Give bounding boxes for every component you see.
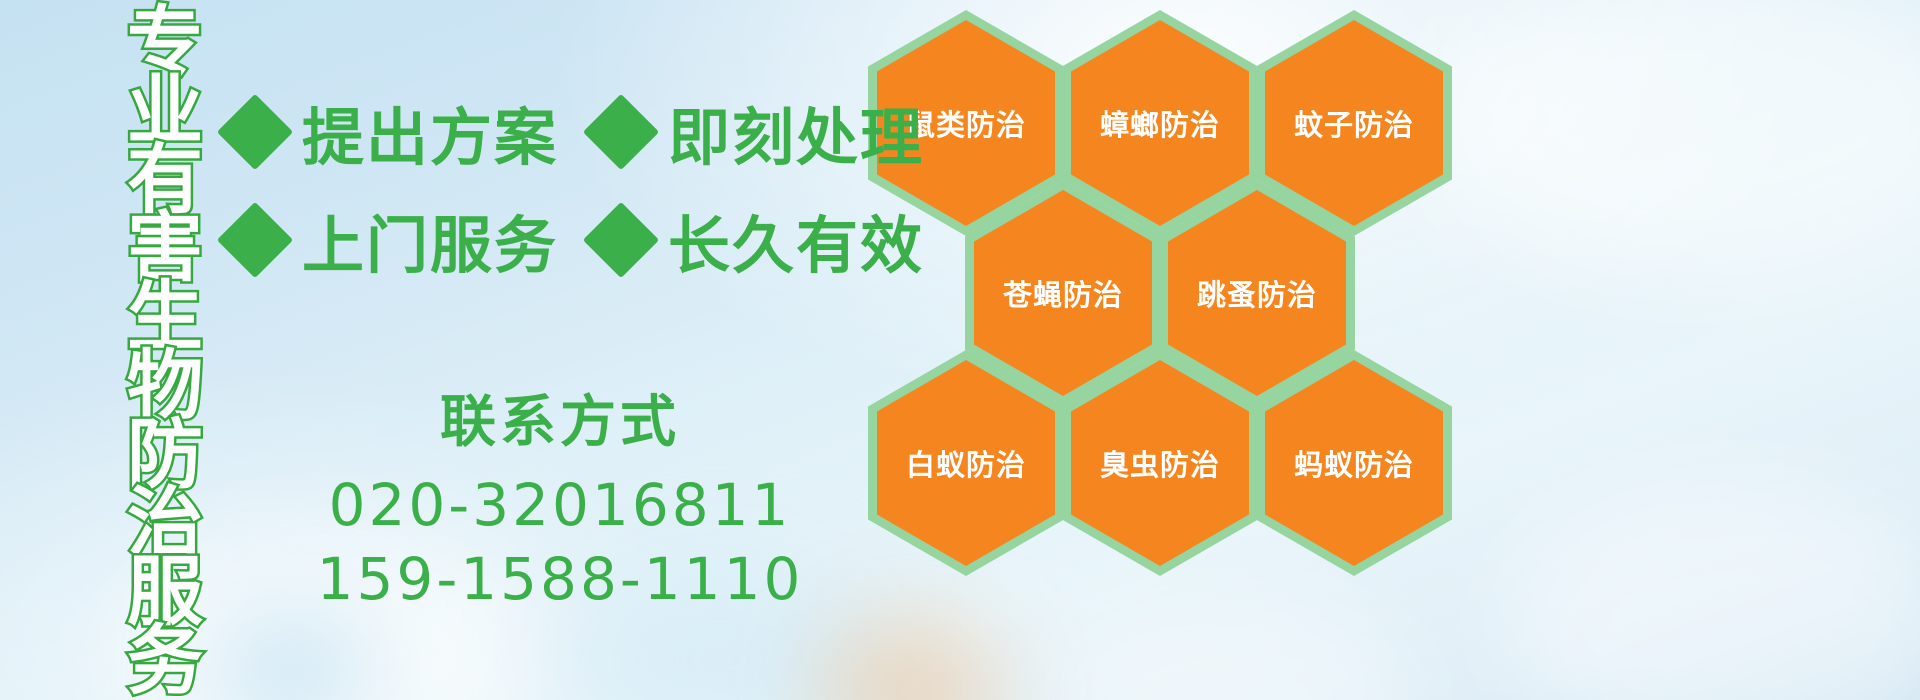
feature-item-propose-plan: 提出方案	[228, 87, 558, 177]
service-label: 跳蚤防治	[1197, 272, 1317, 314]
service-label: 苍蝇防治	[1003, 272, 1123, 314]
service-label: 蟑螂防治	[1100, 102, 1220, 144]
diamond-icon	[217, 202, 293, 278]
service-label: 蚊子防治	[1294, 102, 1414, 144]
feature-label: 长久有效	[668, 195, 924, 285]
background-blob	[1420, 0, 1920, 280]
feature-label: 提出方案	[302, 87, 558, 177]
feature-label: 上门服务	[302, 195, 558, 285]
contact-block: 联系方式 020-32016811 159-1588-1110	[300, 392, 820, 616]
phone-number-landline[interactable]: 020-32016811	[300, 468, 820, 542]
diamond-icon	[583, 94, 659, 170]
hex-inner: 白蚁防治	[877, 360, 1055, 566]
hex-inner: 跳蚤防治	[1168, 190, 1346, 396]
background-blob	[1500, 480, 1920, 700]
service-label: 白蚁防治	[906, 442, 1026, 484]
contact-title: 联系方式	[300, 392, 820, 454]
feature-item-immediate-treatment: 即刻处理	[594, 87, 924, 177]
vertical-headline: 专 业 有 害 生 物 防 治 服 务	[113, 8, 217, 698]
hex-inner: 臭虫防治	[1071, 360, 1249, 566]
feature-list: 提出方案 即刻处理 上门服务 长久有效	[228, 78, 924, 294]
phone-number-mobile[interactable]: 159-1588-1110	[300, 542, 820, 616]
service-label: 臭虫防治	[1100, 442, 1220, 484]
hex-inner: 蚂蚁防治	[1265, 360, 1443, 566]
headline-char: 务	[127, 627, 203, 696]
feature-row: 上门服务 长久有效	[228, 186, 924, 294]
feature-label: 即刻处理	[668, 87, 924, 177]
hex-inner: 蟑螂防治	[1071, 20, 1249, 226]
diamond-icon	[583, 202, 659, 278]
hex-inner: 苍蝇防治	[974, 190, 1152, 396]
service-honeycomb: 鼠类防治 蟑螂防治 蚊子防治 苍蝇防治 跳蚤防治 白蚁防治	[862, 0, 1462, 700]
diamond-icon	[217, 94, 293, 170]
pest-control-banner: 专 业 有 害 生 物 防 治 服 务 提出方案 即刻处理 上门服务	[0, 0, 1920, 700]
feature-item-long-lasting: 长久有效	[594, 195, 924, 285]
background-blob	[210, 610, 370, 700]
hex-inner: 蚊子防治	[1265, 20, 1443, 226]
service-label: 蚂蚁防治	[1294, 442, 1414, 484]
feature-item-onsite-service: 上门服务	[228, 195, 558, 285]
feature-row: 提出方案 即刻处理	[228, 78, 924, 186]
